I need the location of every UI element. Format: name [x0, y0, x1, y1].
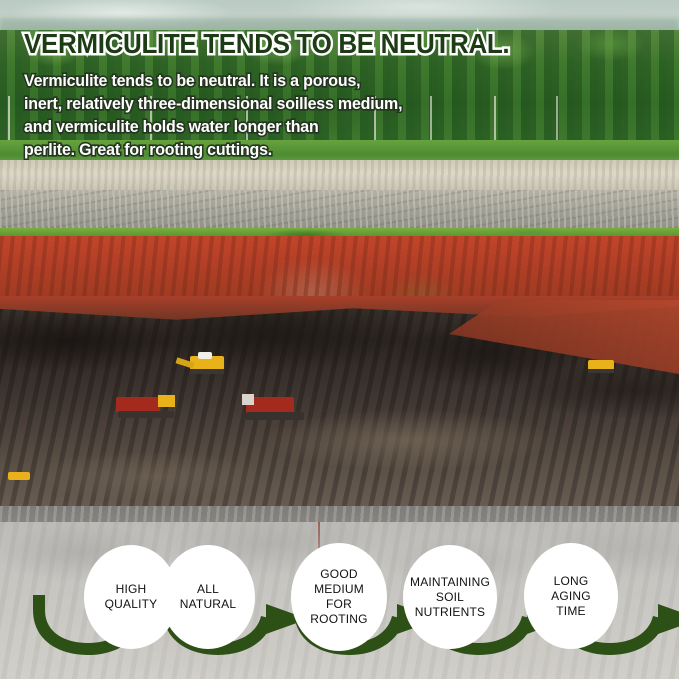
flow-node-high-quality-line-2: QUALITY: [105, 597, 158, 612]
flow-node-all-natural[interactable]: ALL NATURAL: [161, 545, 255, 649]
flow-node-long-aging-time-line-1: LONG: [551, 574, 591, 589]
flow-node-long-aging-time-line-3: TIME: [551, 604, 591, 619]
flow-node-soil-nutrients-line-1: MAINTAINING: [410, 575, 490, 590]
description-line-2: inert, relatively three-dimensional soil…: [24, 92, 513, 115]
page-title: VERMICULITE TENDS TO BE NEUTRAL.: [24, 29, 509, 59]
flow-node-all-natural-line-2: NATURAL: [180, 597, 237, 612]
yellow-machine-far-left: [6, 470, 36, 484]
header-text-block: VERMICULITE TENDS TO BE NEUTRAL. Vermicu…: [0, 0, 679, 175]
flow-node-soil-nutrients-line-3: NUTRIENTS: [410, 605, 490, 620]
yellow-excavator-center: [176, 352, 228, 374]
red-dump-truck-center: [242, 394, 306, 422]
flow-arrow-5-head: [658, 604, 679, 634]
flow-node-good-medium-rooting-line-1: GOOD: [310, 567, 367, 582]
description-line-4: perlite. Great for rooting cuttings.: [24, 138, 513, 161]
flow-node-long-aging-time[interactable]: LONG AGING TIME: [524, 543, 618, 649]
description-paragraph: Vermiculite tends to be neutral. It is a…: [24, 69, 513, 161]
flow-node-good-medium-rooting-line-4: ROOTING: [310, 612, 367, 627]
flow-node-soil-nutrients[interactable]: MAINTAINING SOIL NUTRIENTS: [403, 545, 497, 649]
flow-node-good-medium-rooting[interactable]: GOOD MEDIUM FOR ROOTING: [291, 543, 387, 651]
flow-node-good-medium-rooting-line-3: FOR: [310, 597, 367, 612]
flow-node-soil-nutrients-line-2: SOIL: [410, 590, 490, 605]
benefits-flow-panel: HIGH QUALITY ALL NATURAL GOOD MEDIUM FOR…: [0, 522, 679, 679]
red-dump-truck-left: [116, 395, 178, 421]
flow-node-all-natural-line-1: ALL: [180, 582, 237, 597]
product-infographic-poster: VERMICULITE TENDS TO BE NEUTRAL. Vermicu…: [0, 0, 679, 679]
description-line-1: Vermiculite tends to be neutral. It is a…: [24, 69, 513, 92]
flow-node-good-medium-rooting-line-2: MEDIUM: [310, 582, 367, 597]
flow-node-high-quality-line-1: HIGH: [105, 582, 158, 597]
description-line-3: and vermiculite holds water longer than: [24, 115, 513, 138]
yellow-loader-right: [584, 358, 618, 374]
flow-node-long-aging-time-line-2: AGING: [551, 589, 591, 604]
